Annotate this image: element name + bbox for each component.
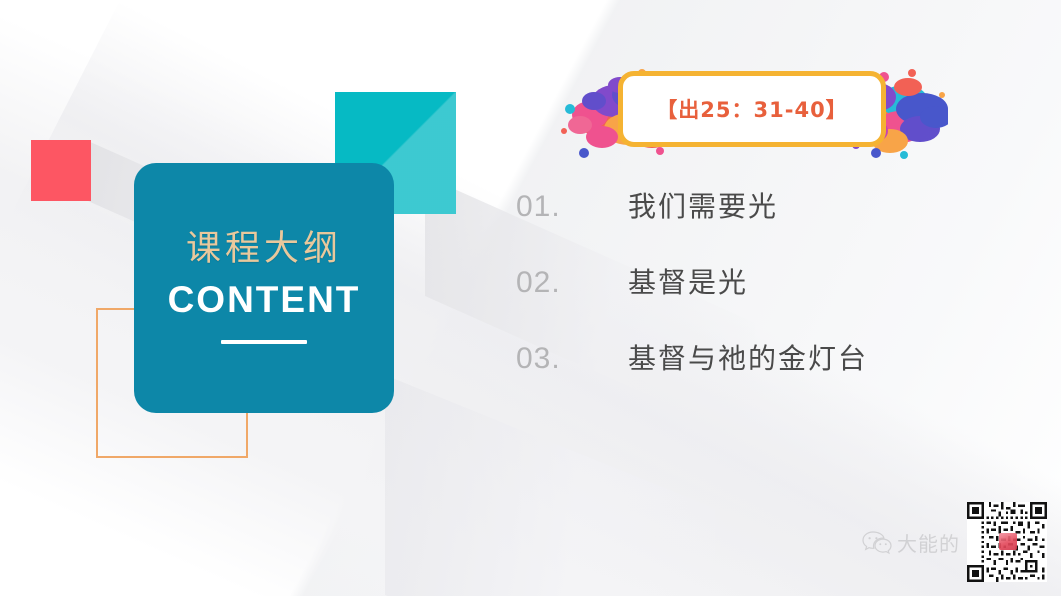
list-item-label: 基督是光 — [628, 261, 748, 301]
list-item[interactable]: 03. 基督与祂的金灯台 — [516, 337, 946, 413]
scripture-reference-text: 【出25：31-40】 — [656, 94, 847, 124]
outline-list: 01. 我们需要光 02. 基督是光 03. 基督与祂的金灯台 — [516, 185, 946, 413]
qr-code-center-logo — [999, 533, 1017, 550]
card-title-chinese: 课程大纲 — [186, 232, 342, 267]
list-item[interactable]: 01. 我们需要光 — [516, 185, 946, 261]
slide-canvas: 课程大纲 CONTENT — [0, 0, 1061, 596]
list-item-number: 03. — [516, 342, 628, 376]
list-item[interactable]: 02. 基督是光 — [516, 261, 946, 337]
scripture-banner-frame: 【出25：31-40】 — [618, 71, 886, 147]
list-item-number: 01. — [516, 190, 628, 224]
red-square-decoration — [31, 140, 91, 201]
list-item-number: 02. — [516, 266, 628, 300]
list-item-label: 我们需要光 — [628, 185, 778, 225]
list-item-label: 基督与祂的金灯台 — [628, 337, 868, 377]
qr-code[interactable] — [967, 502, 1047, 582]
wechat-icon — [862, 530, 892, 555]
scripture-banner: 【出25：31-40】 — [556, 57, 948, 167]
wechat-watermark: 大能的 — [862, 528, 960, 557]
card-title-english: CONTENT — [168, 281, 361, 318]
content-card: 课程大纲 CONTENT — [134, 163, 394, 413]
watermark-text: 大能的 — [897, 528, 960, 557]
card-divider — [221, 340, 307, 344]
